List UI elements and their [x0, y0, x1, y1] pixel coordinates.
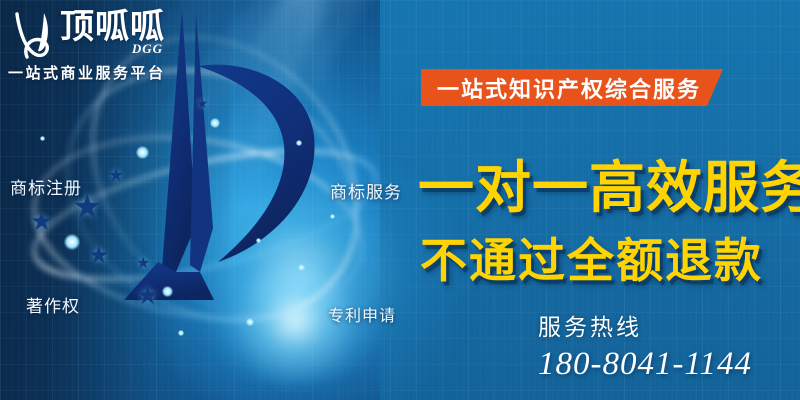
glow-particle	[40, 136, 45, 141]
star-icon: ★	[196, 96, 209, 110]
star-icon: ★	[136, 256, 150, 272]
star-icon: ★	[108, 166, 124, 184]
brand-tagline: 一站式商业服务平台	[8, 62, 166, 83]
glow-particle	[178, 330, 184, 336]
star-icon: ★	[30, 208, 53, 234]
feature-label-trademark-service: 商标服务	[330, 178, 402, 203]
promo-ribbon-text: 一站式知识产权综合服务	[437, 72, 701, 104]
glow-particle	[162, 286, 173, 297]
star-icon: ★	[88, 244, 110, 268]
glow-particle	[298, 264, 305, 271]
feature-label-patent-application: 专利申请	[328, 302, 396, 326]
glow-particle	[256, 238, 261, 243]
brand-name-en: DGG	[132, 41, 163, 57]
glow-particle	[64, 234, 80, 250]
brand-logo[interactable]: 顶呱呱 DGG	[14, 8, 165, 62]
glow-particle	[210, 118, 220, 128]
promo-banner: ★ ★ ★ ★ ★ ★ ★ 顶呱呱 DGG 一站式商业服务平台 商标注册 商标服…	[0, 0, 800, 400]
leaf-checkmark-icon	[14, 10, 56, 62]
promo-headline-primary: 一对一高效服务	[418, 143, 800, 224]
hotline-number[interactable]: 180-8041-1144	[538, 346, 752, 383]
glow-particle	[246, 318, 254, 326]
glow-particle	[296, 140, 302, 146]
hotline-label: 服务热线	[538, 308, 642, 342]
glow-particle	[330, 214, 335, 219]
glow-particle	[136, 146, 149, 159]
star-icon: ★	[136, 282, 159, 308]
promo-headline-secondary: 不通过全额退款	[420, 222, 763, 291]
feature-label-copyright: 著作权	[26, 292, 80, 317]
promo-ribbon: 一站式知识产权综合服务	[421, 69, 723, 106]
feature-label-trademark-registration: 商标注册	[10, 174, 82, 199]
